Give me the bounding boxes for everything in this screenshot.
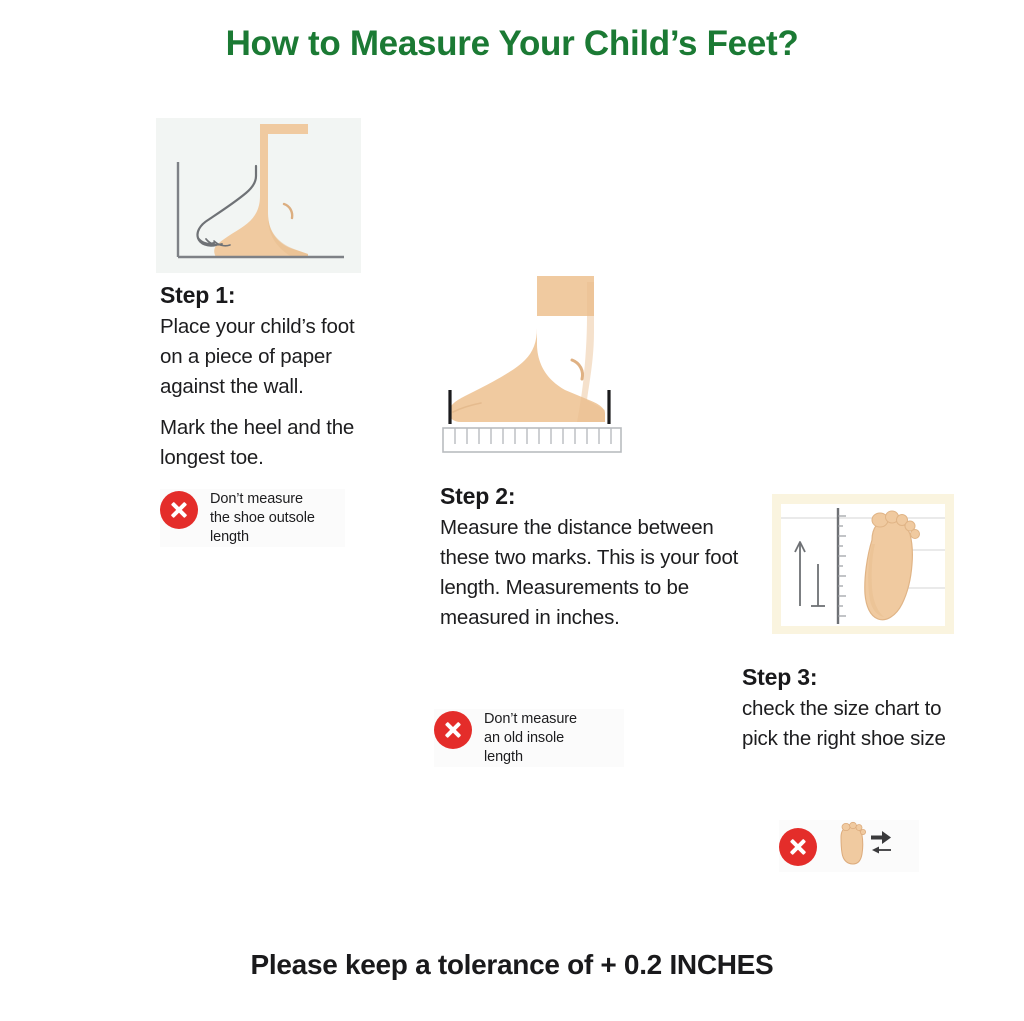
step-2-paragraph-1: Measure the distance between these two m… — [440, 513, 740, 633]
step-3-paragraph-1: check the size chart to pick the right s… — [742, 694, 967, 754]
arrow-right-icon — [871, 831, 891, 844]
step-3-illustration — [772, 494, 954, 634]
step-2-block: Step 2: Measure the distance between the… — [440, 483, 740, 633]
step-2-heading: Step 2: — [440, 483, 740, 510]
page-title: How to Measure Your Child’s Feet? — [0, 24, 1024, 64]
warning-line: the shoe outsole — [210, 509, 315, 528]
foot-side-against-wall-graphic — [156, 118, 361, 273]
step-1-paragraph-2: Mark the heel and the longest toe. — [160, 413, 375, 473]
step-1-illustration — [156, 118, 361, 273]
warning-line: Don’t measure — [484, 710, 577, 729]
tolerance-note: Please keep a tolerance of + 0.2 INCHES — [0, 949, 1024, 981]
warning-line: length — [484, 748, 577, 767]
step-1-warning-text: Don’t measure the shoe outsole length — [210, 489, 315, 547]
warning-line: length — [210, 528, 315, 547]
infographic-page: How to Measure Your Child’s Feet? Step 1… — [0, 0, 1024, 1021]
step-2-warning-text: Don’t measure an old insole length — [484, 709, 577, 767]
foot-sole-with-ruler-graphic — [772, 494, 954, 634]
step-2-illustration — [437, 272, 632, 457]
step-3-heading: Step 3: — [742, 664, 967, 691]
step-3-body: check the size chart to pick the right s… — [742, 694, 967, 754]
step-3-warning-badge — [779, 820, 919, 872]
step-1-heading: Step 1: — [160, 282, 375, 309]
step-3-block: Step 3: check the size chart to pick the… — [742, 664, 967, 754]
step-2-body: Measure the distance between these two m… — [440, 513, 740, 633]
step-2-warning-badge: Don’t measure an old insole length — [434, 709, 624, 767]
step-1-body: Place your child’s foot on a piece of pa… — [160, 312, 375, 473]
warning-line: Don’t measure — [210, 490, 315, 509]
step-1-paragraph-1: Place your child’s foot on a piece of pa… — [160, 312, 375, 402]
foot-with-arrows-icon — [831, 821, 893, 872]
arrow-left-icon — [872, 847, 891, 854]
warning-line: an old insole — [484, 729, 577, 748]
step-1-block: Step 1: Place your child’s foot on a pie… — [160, 282, 375, 473]
red-x-circle-icon — [160, 491, 198, 529]
red-x-circle-icon — [434, 711, 472, 749]
red-x-circle-icon — [779, 828, 817, 866]
foot-above-ruler-graphic — [437, 272, 632, 457]
step-1-warning-badge: Don’t measure the shoe outsole length — [160, 489, 345, 547]
